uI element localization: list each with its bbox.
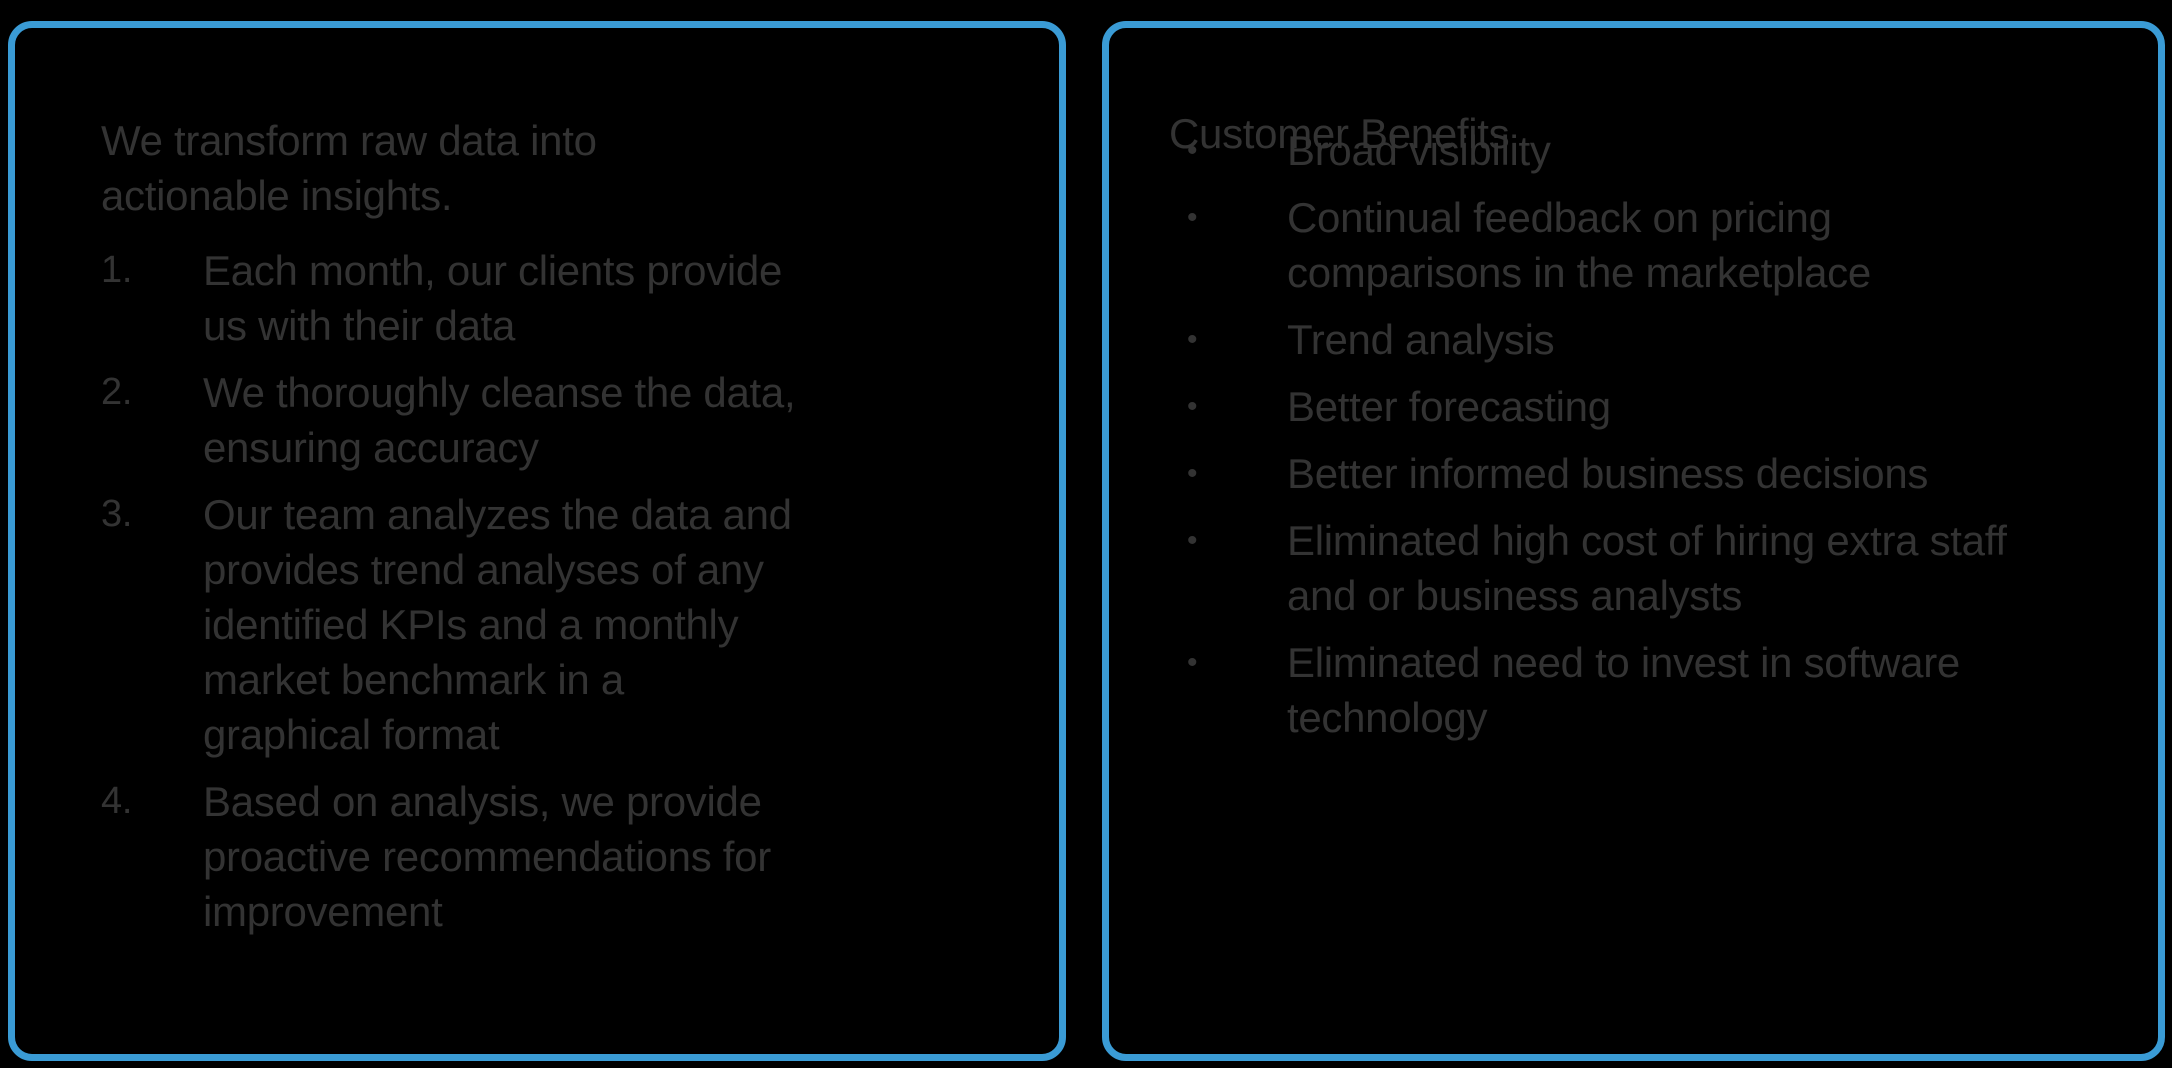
list-item-label: Our team analyzes the data and provides … [101, 487, 801, 762]
bullet-icon: • [1169, 123, 1257, 178]
customer-benefits-panel: Customer Benefits Customer Benefits • Br… [1102, 21, 2165, 1061]
list-item-label: Each month, our clients provide us with … [101, 243, 801, 353]
list-marker-number: 3. [101, 487, 179, 542]
list-item-label: Based on analysis, we provide proactive … [101, 774, 801, 939]
list-marker-number: 2. [101, 365, 179, 420]
list-item-label: Eliminated high cost of hiring extra sta… [1169, 513, 2069, 623]
bullet-icon: • [1169, 513, 1257, 568]
list-item-label: Trend analysis [1169, 312, 2069, 367]
list-item: • Eliminated need to invest in software … [1169, 635, 2069, 745]
list-item-label: Broad visibility [1169, 123, 2069, 178]
list-item: • Trend analysis [1169, 312, 2069, 367]
list-item: 3. Our team analyzes the data and provid… [101, 487, 801, 762]
list-item-label: Eliminated need to invest in software te… [1169, 635, 2069, 745]
bullet-icon: • [1169, 379, 1257, 434]
list-item: • Broad visibility [1169, 123, 2069, 178]
customer-benefits-panel-body: Customer Benefits Customer Benefits • Br… [1109, 28, 2158, 1054]
list-item-label: Better forecasting [1169, 379, 2069, 434]
list-item: • Continual feedback on pricing comparis… [1169, 190, 2069, 300]
bullet-icon: • [1169, 312, 1257, 367]
customer-benefits-list: Customer Benefits • Broad visibility • C… [1169, 123, 2069, 757]
bullet-icon: • [1169, 190, 1257, 245]
process-panel-body: We transform raw data into actionable in… [15, 28, 1059, 1054]
slide-canvas: We transform raw data into actionable in… [0, 0, 2172, 1068]
list-item-label: We thoroughly cleanse the data, ensuring… [101, 365, 801, 475]
list-item-label: Continual feedback on pricing comparison… [1169, 190, 2069, 300]
bullet-icon: • [1169, 635, 1257, 690]
list-item: • Eliminated high cost of hiring extra s… [1169, 513, 2069, 623]
list-item: 1. Each month, our clients provide us wi… [101, 243, 801, 353]
process-steps-list: 1. Each month, our clients provide us wi… [101, 243, 801, 951]
list-item: • Better forecasting [1169, 379, 2069, 434]
list-marker-number: 1. [101, 243, 179, 298]
process-panel: We transform raw data into actionable in… [8, 21, 1066, 1061]
list-item: • Better informed business decisions [1169, 446, 2069, 501]
bullet-icon: • [1169, 446, 1257, 501]
list-item: 4. Based on analysis, we provide proacti… [101, 774, 801, 939]
list-item-label: Better informed business decisions [1169, 446, 2069, 501]
list-marker-number: 4. [101, 774, 179, 829]
process-intro-text: We transform raw data into actionable in… [101, 113, 711, 223]
list-item: 2. We thoroughly cleanse the data, ensur… [101, 365, 801, 475]
